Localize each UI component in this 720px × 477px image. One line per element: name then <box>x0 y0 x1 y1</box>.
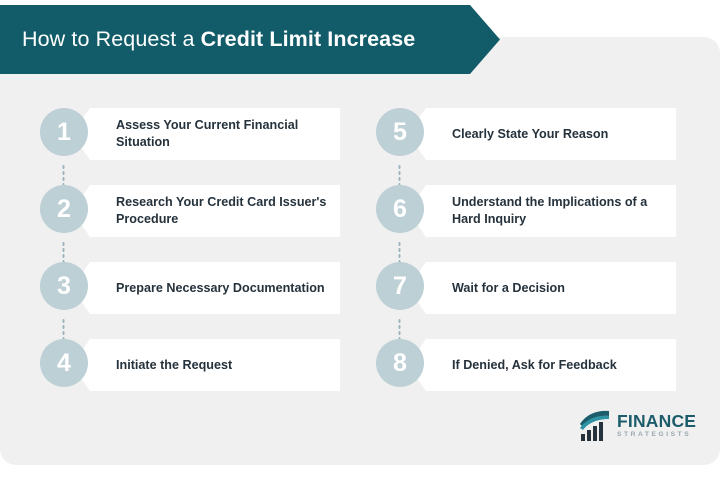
brand-logo: FINANCE STRATEGISTS <box>578 410 696 442</box>
step-item[interactable]: Assess Your Current Financial Situation … <box>40 108 340 160</box>
step-card[interactable]: Prepare Necessary Documentation <box>72 262 340 314</box>
step-card[interactable]: If Denied, Ask for Feedback <box>408 339 676 391</box>
page-title-plain: How to Request a <box>22 27 201 51</box>
steps-column-left: Assess Your Current Financial Situation … <box>40 108 340 391</box>
step-number-badge: 5 <box>376 108 424 156</box>
step-connector-dots <box>62 241 65 262</box>
step-connector-dots <box>62 164 65 185</box>
step-number-badge: 8 <box>376 339 424 387</box>
step-label: Initiate the Request <box>72 357 242 374</box>
steps-column-right: Clearly State Your Reason 5 Understand t… <box>376 108 676 391</box>
step-label: Understand the Implications of a Hard In… <box>408 194 676 228</box>
step-label: Prepare Necessary Documentation <box>72 280 335 297</box>
step-connector-dots <box>62 318 65 339</box>
step-card[interactable]: Assess Your Current Financial Situation <box>72 108 340 160</box>
step-item[interactable]: Wait for a Decision 7 <box>376 262 676 314</box>
step-number: 2 <box>57 197 71 222</box>
step-label: If Denied, Ask for Feedback <box>408 357 627 374</box>
step-label: Assess Your Current Financial Situation <box>72 117 340 151</box>
step-number: 8 <box>393 351 407 376</box>
step-number-badge: 6 <box>376 185 424 233</box>
page-title-bold: Credit Limit Increase <box>201 27 416 51</box>
header-banner: How to Request a Credit Limit Increase <box>0 5 500 74</box>
step-number: 3 <box>57 274 71 299</box>
step-item[interactable]: Clearly State Your Reason 5 <box>376 108 676 160</box>
infographic-canvas: How to Request a Credit Limit Increase A… <box>0 0 720 477</box>
step-card[interactable]: Understand the Implications of a Hard In… <box>408 185 676 237</box>
page-title: How to Request a Credit Limit Increase <box>0 27 415 52</box>
logo-name: FINANCE <box>617 413 696 431</box>
step-number: 7 <box>393 274 407 299</box>
step-number: 1 <box>57 120 71 145</box>
step-item[interactable]: Understand the Implications of a Hard In… <box>376 185 676 237</box>
step-number-badge: 7 <box>376 262 424 310</box>
step-number: 6 <box>393 197 407 222</box>
finance-strategists-logo-icon <box>578 410 612 442</box>
step-item[interactable]: Research Your Credit Card Issuer's Proce… <box>40 185 340 237</box>
step-card[interactable]: Initiate the Request <box>72 339 340 391</box>
logo-tagline: STRATEGISTS <box>617 432 696 439</box>
step-number: 4 <box>57 351 71 376</box>
step-item[interactable]: Prepare Necessary Documentation 3 <box>40 262 340 314</box>
step-card[interactable]: Clearly State Your Reason <box>408 108 676 160</box>
step-number-badge: 2 <box>40 185 88 233</box>
step-label: Research Your Credit Card Issuer's Proce… <box>72 194 340 228</box>
step-item[interactable]: Initiate the Request 4 <box>40 339 340 391</box>
step-connector-dots <box>398 241 401 262</box>
step-label: Wait for a Decision <box>408 280 575 297</box>
step-connector-dots <box>398 164 401 185</box>
step-number: 5 <box>393 120 407 145</box>
step-number-badge: 1 <box>40 108 88 156</box>
step-card[interactable]: Research Your Credit Card Issuer's Proce… <box>72 185 340 237</box>
step-label: Clearly State Your Reason <box>408 126 618 143</box>
step-number-badge: 3 <box>40 262 88 310</box>
step-connector-dots <box>398 318 401 339</box>
logo-wordmark: FINANCE STRATEGISTS <box>617 413 696 439</box>
step-item[interactable]: If Denied, Ask for Feedback 8 <box>376 339 676 391</box>
step-card[interactable]: Wait for a Decision <box>408 262 676 314</box>
step-number-badge: 4 <box>40 339 88 387</box>
